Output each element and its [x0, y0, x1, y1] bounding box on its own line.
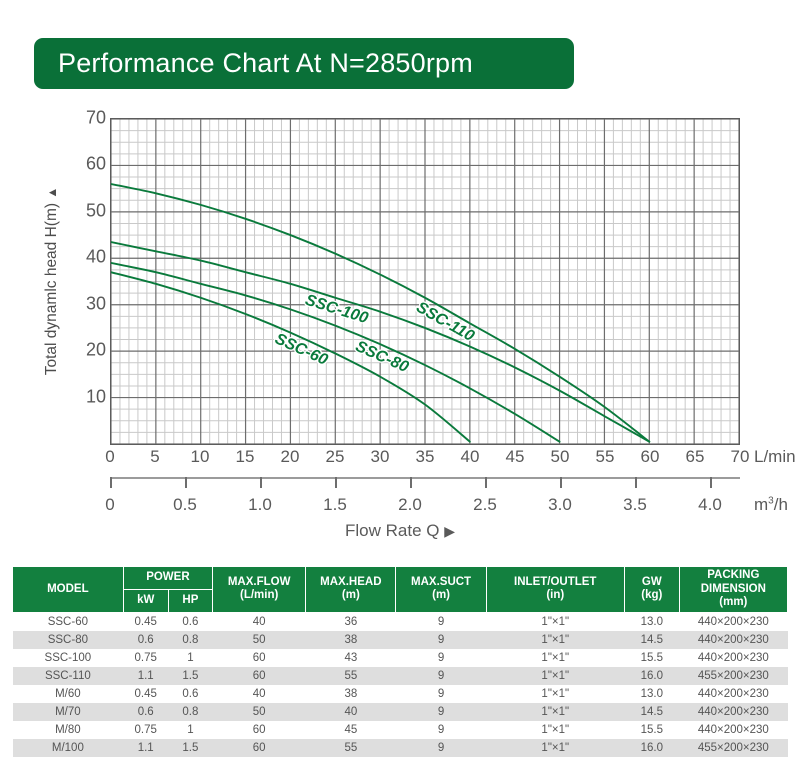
cell-model: SSC-60	[13, 612, 124, 631]
x-tick-label-m3h: 1.5	[323, 495, 347, 515]
th-packing-line3: (mm)	[682, 596, 785, 610]
cell-gw: 16.0	[624, 667, 679, 685]
y-tick-label: 60	[86, 154, 106, 175]
cell-hp: 1.5	[168, 739, 212, 757]
cell-gw: 14.5	[624, 631, 679, 649]
th-max-flow: MAX.FLOW (L/min)	[213, 567, 306, 613]
x-tick-mark-m3h	[485, 477, 487, 488]
x-tick-mark-m3h	[185, 477, 187, 488]
cell-inlet-outlet: 1"×1"	[486, 739, 624, 757]
th-max-head-line2: (m)	[308, 589, 393, 603]
th-packing-line2: DIMENSION	[682, 583, 785, 597]
table-row[interactable]: SSC-800.60.8503891"×1"14.5440×200×230	[13, 631, 788, 649]
x-axis-rule	[110, 477, 740, 479]
th-model: MODEL	[13, 567, 124, 613]
cell-kw: 0.6	[123, 631, 168, 649]
x-tick-label-m3h: 3.0	[548, 495, 572, 515]
x-tick-label-m3h: 2.5	[473, 495, 497, 515]
cell-max-suct: 9	[396, 685, 486, 703]
cell-max-flow: 50	[213, 631, 306, 649]
x-tick-mark-m3h	[635, 477, 637, 488]
x-tick-label-lmin: 40	[461, 447, 480, 467]
plot-area: SSC-110SSC-100SSC-80SSC-60	[110, 118, 740, 445]
cell-gw: 14.5	[624, 703, 679, 721]
cell-model: SSC-110	[13, 667, 124, 685]
x-unit-lmin: L/min	[754, 447, 796, 467]
cell-inlet-outlet: 1"×1"	[486, 721, 624, 739]
cell-inlet-outlet: 1"×1"	[486, 703, 624, 721]
th-max-suct-line2: (m)	[398, 589, 483, 603]
cell-max-suct: 9	[396, 631, 486, 649]
x-tick-label-lmin: 35	[416, 447, 435, 467]
x-tick-label-lmin: 15	[236, 447, 255, 467]
x-tick-label-m3h: 0	[105, 495, 114, 515]
x-tick-label-lmin: 20	[281, 447, 300, 467]
th-kw: kW	[123, 589, 168, 612]
table-row[interactable]: M/1001.11.5605591"×1"16.0455×200×230	[13, 739, 788, 757]
cell-max-head: 45	[306, 721, 396, 739]
x-tick-mark-m3h	[560, 477, 562, 488]
cell-packing: 455×200×230	[679, 667, 787, 685]
x-tick-label-m3h: 3.5	[623, 495, 647, 515]
cell-inlet-outlet: 1"×1"	[486, 612, 624, 631]
y-tick-label: 20	[86, 340, 106, 361]
cell-packing: 455×200×230	[679, 739, 787, 757]
x-tick-label-m3h: 4.0	[698, 495, 722, 515]
cell-max-flow: 60	[213, 739, 306, 757]
table-row[interactable]: SSC-1101.11.5605591"×1"16.0455×200×230	[13, 667, 788, 685]
cell-max-head: 40	[306, 703, 396, 721]
cell-packing: 440×200×230	[679, 631, 787, 649]
x-tick-label-lmin: 70	[731, 447, 750, 467]
x-axis-arrow-icon: ▶	[444, 523, 455, 539]
table-row[interactable]: M/600.450.6403891"×1"13.0440×200×230	[13, 685, 788, 703]
cell-kw: 0.75	[123, 721, 168, 739]
performance-chart-page: Performance Chart At N=2850rpm Total dyn…	[0, 0, 800, 766]
cell-hp: 0.6	[168, 685, 212, 703]
th-max-head: MAX.HEAD (m)	[306, 567, 396, 613]
cell-hp: 1	[168, 649, 212, 667]
cell-max-suct: 9	[396, 612, 486, 631]
x-tick-label-lmin: 45	[506, 447, 525, 467]
table-head: MODEL POWER MAX.FLOW (L/min) MAX.HEAD (m…	[13, 567, 788, 613]
table-row[interactable]: M/700.60.8504091"×1"14.5440×200×230	[13, 703, 788, 721]
cell-model: SSC-80	[13, 631, 124, 649]
table-row[interactable]: SSC-600.450.6403691"×1"13.0440×200×230	[13, 612, 788, 631]
cell-max-head: 36	[306, 612, 396, 631]
y-tick-label: 10	[86, 386, 106, 407]
th-gw-line1: GW	[627, 576, 677, 590]
cell-gw: 13.0	[624, 685, 679, 703]
cell-hp: 1.5	[168, 667, 212, 685]
x-tick-label-lmin: 60	[641, 447, 660, 467]
th-max-suct: MAX.SUCT (m)	[396, 567, 486, 613]
y-tick-label: 50	[86, 200, 106, 221]
curve-label-ssc-80: SSC-80	[353, 338, 411, 376]
cell-model: SSC-100	[13, 649, 124, 667]
x-tick-label-lmin: 25	[326, 447, 345, 467]
y-axis-title-text: Total dynamlc head H(m)	[43, 203, 60, 375]
y-tick-label: 40	[86, 247, 106, 268]
y-axis-title: Total dynamlc head H(m) ▲	[43, 131, 61, 431]
cell-kw: 0.6	[123, 703, 168, 721]
cell-max-flow: 40	[213, 612, 306, 631]
cell-max-flow: 60	[213, 649, 306, 667]
cell-max-head: 38	[306, 685, 396, 703]
cell-kw: 1.1	[123, 739, 168, 757]
x-axis-title: Flow Rate Q ▶	[0, 521, 800, 541]
cell-max-head: 55	[306, 739, 396, 757]
cell-hp: 0.8	[168, 631, 212, 649]
th-max-suct-line1: MAX.SUCT	[398, 576, 483, 590]
th-gw-line2: (kg)	[627, 589, 677, 603]
cell-max-flow: 50	[213, 703, 306, 721]
cell-packing: 440×200×230	[679, 721, 787, 739]
th-max-flow-line2: (L/min)	[215, 589, 303, 603]
x-unit-m3h: m3/h	[754, 495, 788, 515]
th-packing-line1: PACKING	[682, 569, 785, 583]
table-row[interactable]: M/800.751604591"×1"15.5440×200×230	[13, 721, 788, 739]
x-tick-label-m3h: 2.0	[398, 495, 422, 515]
x-tick-label-lmin: 5	[150, 447, 159, 467]
x-tick-mark-m3h	[335, 477, 337, 488]
th-inlet-outlet: INLET/OUTLET (in)	[486, 567, 624, 613]
th-packing-dimension: PACKING DIMENSION (mm)	[679, 567, 787, 613]
cell-kw: 0.75	[123, 649, 168, 667]
cell-max-suct: 9	[396, 703, 486, 721]
x-tick-label-m3h: 0.5	[173, 495, 197, 515]
cell-hp: 0.6	[168, 612, 212, 631]
performance-chart: Total dynamlc head H(m) ▲ 10203040506070…	[0, 100, 800, 560]
th-gw: GW (kg)	[624, 567, 679, 613]
cell-packing: 440×200×230	[679, 649, 787, 667]
cell-max-flow: 40	[213, 685, 306, 703]
cell-max-flow: 60	[213, 721, 306, 739]
cell-model: M/100	[13, 739, 124, 757]
curve-label-ssc-100: SSC-100	[303, 292, 370, 328]
table-body: SSC-600.450.6403691"×1"13.0440×200×230SS…	[13, 612, 788, 757]
x-tick-mark-m3h	[110, 477, 112, 488]
x-tick-label-lmin: 50	[551, 447, 570, 467]
cell-hp: 1	[168, 721, 212, 739]
th-hp: HP	[168, 589, 212, 612]
table-header-row-1: MODEL POWER MAX.FLOW (L/min) MAX.HEAD (m…	[13, 567, 788, 590]
th-inlet-outlet-line1: INLET/OUTLET	[489, 576, 622, 590]
cell-packing: 440×200×230	[679, 685, 787, 703]
cell-max-flow: 60	[213, 667, 306, 685]
cell-max-head: 43	[306, 649, 396, 667]
cell-kw: 1.1	[123, 667, 168, 685]
specification-table: MODEL POWER MAX.FLOW (L/min) MAX.HEAD (m…	[12, 566, 788, 757]
th-max-flow-line1: MAX.FLOW	[215, 576, 303, 590]
cell-packing: 440×200×230	[679, 703, 787, 721]
x-tick-mark-m3h	[710, 477, 712, 488]
cell-hp: 0.8	[168, 703, 212, 721]
cell-model: M/60	[13, 685, 124, 703]
cell-max-head: 55	[306, 667, 396, 685]
cell-packing: 440×200×230	[679, 612, 787, 631]
cell-inlet-outlet: 1"×1"	[486, 667, 624, 685]
cell-kw: 0.45	[123, 685, 168, 703]
cell-gw: 15.5	[624, 649, 679, 667]
x-tick-label-lmin: 10	[191, 447, 210, 467]
cell-model: M/80	[13, 721, 124, 739]
y-tick-label: 30	[86, 293, 106, 314]
cell-model: M/70	[13, 703, 124, 721]
y-axis-arrow-icon: ▲	[45, 187, 59, 199]
cell-max-suct: 9	[396, 739, 486, 757]
cell-gw: 13.0	[624, 612, 679, 631]
cell-gw: 16.0	[624, 739, 679, 757]
th-inlet-outlet-line2: (in)	[489, 589, 622, 603]
cell-max-suct: 9	[396, 649, 486, 667]
cell-max-suct: 9	[396, 667, 486, 685]
table-row[interactable]: SSC-1000.751604391"×1"15.5440×200×230	[13, 649, 788, 667]
x-axis-title-text: Flow Rate Q	[345, 521, 439, 540]
cell-max-head: 38	[306, 631, 396, 649]
th-max-head-line1: MAX.HEAD	[308, 576, 393, 590]
th-power: POWER	[123, 567, 212, 590]
x-tick-mark-m3h	[260, 477, 262, 488]
x-tick-label-lmin: 65	[686, 447, 705, 467]
cell-gw: 15.5	[624, 721, 679, 739]
x-tick-mark-m3h	[410, 477, 412, 488]
x-tick-label-m3h: 1.0	[248, 495, 272, 515]
x-axis-area: Flow Rate Q ▶ 05101520253035404550556065…	[0, 445, 800, 560]
page-title: Performance Chart At N=2850rpm	[34, 48, 473, 79]
cell-inlet-outlet: 1"×1"	[486, 649, 624, 667]
y-tick-label: 70	[86, 108, 106, 129]
cell-inlet-outlet: 1"×1"	[486, 685, 624, 703]
x-tick-label-lmin: 0	[105, 447, 114, 467]
y-axis-ticks: 10203040506070	[62, 100, 106, 445]
cell-max-suct: 9	[396, 721, 486, 739]
title-banner: Performance Chart At N=2850rpm	[34, 38, 574, 89]
cell-kw: 0.45	[123, 612, 168, 631]
x-tick-label-lmin: 30	[371, 447, 390, 467]
plot-svg: SSC-110SSC-100SSC-80SSC-60	[111, 119, 739, 444]
cell-inlet-outlet: 1"×1"	[486, 631, 624, 649]
x-tick-label-lmin: 55	[596, 447, 615, 467]
